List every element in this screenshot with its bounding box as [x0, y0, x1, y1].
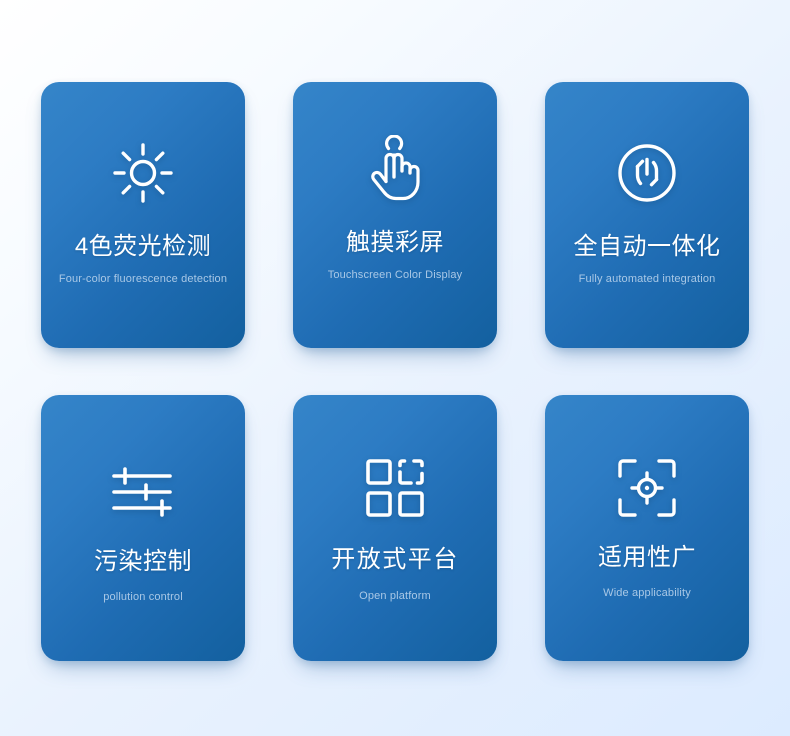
feature-card-pollution-control[interactable]: 污染控制 pollution control — [41, 395, 245, 661]
feature-card-open-platform[interactable]: 开放式平台 Open platform — [293, 395, 497, 661]
card-title: 触摸彩屏 — [346, 230, 444, 256]
auto-refresh-circle-icon — [612, 138, 682, 208]
grid-squares-icon — [360, 453, 430, 523]
focus-target-icon — [612, 453, 682, 523]
card-subtitle: Touchscreen Color Display — [328, 269, 463, 282]
card-title: 4色荧光检测 — [75, 234, 211, 260]
card-title: 污染控制 — [94, 549, 192, 575]
feature-card-touchscreen-display[interactable]: 触摸彩屏 Touchscreen Color Display — [293, 82, 497, 348]
feature-card-wide-applicability[interactable]: 适用性广 Wide applicability — [545, 395, 749, 661]
feature-card-fully-automated[interactable]: 全自动一体化 Fully automated integration — [545, 82, 749, 348]
sliders-settings-icon — [108, 457, 178, 527]
card-subtitle: Wide applicability — [603, 587, 691, 600]
card-title: 全自动一体化 — [574, 234, 721, 260]
card-subtitle: Four-color fluorescence detection — [59, 273, 227, 286]
sun-brightness-icon — [108, 138, 178, 208]
card-subtitle: Open platform — [359, 590, 431, 603]
card-title: 适用性广 — [598, 545, 696, 571]
card-title: 开放式平台 — [331, 547, 459, 573]
feature-card-fluorescence-detection[interactable]: 4色荧光检测 Four-color fluorescence detection — [41, 82, 245, 348]
card-subtitle: Fully automated integration — [579, 273, 716, 286]
card-subtitle: pollution control — [103, 591, 183, 604]
feature-card-grid: 4色荧光检测 Four-color fluorescence detection… — [0, 0, 790, 736]
touch-hand-tap-icon — [360, 134, 430, 204]
